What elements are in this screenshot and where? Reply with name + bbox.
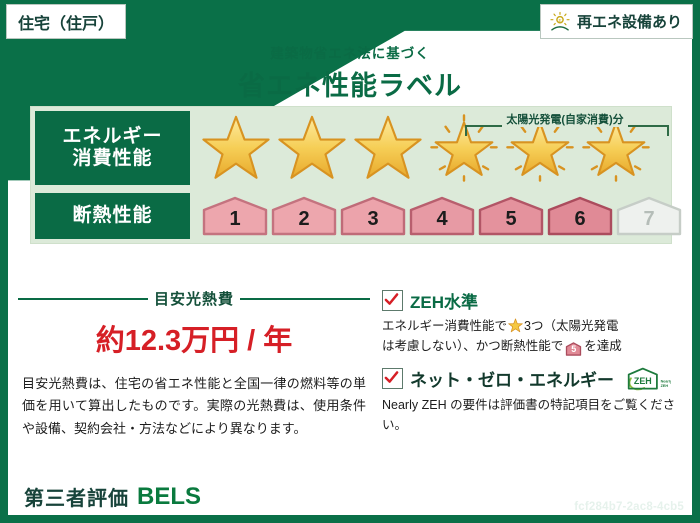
evaluation-date: 評価日 2025年7月3日: [554, 477, 684, 497]
insulation-chip-label: 6: [574, 202, 585, 231]
energy-label-card: 住宅（住戸） E 再エネ設備あり 建築物省エネ法に基づく 省エネ性能ラベル エ: [0, 0, 700, 523]
rating-panel: エネルギー 消費性能: [30, 106, 672, 244]
energy-performance-row: エネルギー 消費性能: [31, 107, 671, 189]
insulation-chip-5: 5: [478, 196, 544, 236]
bels-badge: 第三者評価 BELS: [14, 481, 211, 512]
zeh-netzero-title: ネット・ゼロ・エネルギー: [410, 366, 614, 391]
zeh-standard-block: ZEH水準 エネルギー消費性能で3つ（太陽光発電は考慮しない）、かつ断熱性能で5…: [382, 288, 682, 357]
lower-section: 目安光熱費 約12.3万円 / 年 目安光熱費は、住宅の省エネ性能と全国一律の燃…: [18, 288, 682, 444]
star-rating-group: [194, 114, 671, 182]
svg-text:E: E: [558, 18, 561, 23]
bels-logo-text: BELS: [137, 483, 201, 511]
evaluation-id: fcf284b7-2ac8-4cb5: [574, 501, 684, 513]
category-tag: 住宅（住戸）: [6, 4, 126, 39]
title-subtitle: 建築物省エネ法に基づく: [0, 42, 700, 62]
label-title: 建築物省エネ法に基づく 省エネ性能ラベル: [0, 42, 700, 103]
insulation-chip-label: 1: [229, 202, 240, 231]
zeh-desc-part2: は考慮しない）、かつ断熱性能で: [382, 339, 563, 353]
zeh-netzero-checkbox[interactable]: [382, 368, 403, 389]
renewable-badge-label: 再エネ設備あり: [577, 11, 682, 32]
star-solar-4: [428, 114, 500, 182]
insulation-label-line1: 断熱性能: [72, 205, 152, 227]
zeh-desc-starcount: 3つ（太陽光発電: [524, 319, 618, 333]
title-main: 省エネ性能ラベル: [0, 64, 700, 103]
zeh-standard-desc: エネルギー消費性能で3つ（太陽光発電は考慮しない）、かつ断熱性能で5を達成: [382, 316, 682, 357]
rule-right: [240, 298, 370, 300]
cost-heading: 目安光熱費: [154, 288, 234, 309]
inline-house-grade-icon: 5: [565, 342, 582, 356]
cost-note: 目安光熱費は、住宅の省エネ性能と全国一律の燃料等の単価を用いて算出したものです。…: [18, 373, 370, 440]
insulation-chip-6: 6: [547, 196, 613, 236]
cost-heading-row: 目安光熱費: [18, 288, 370, 309]
insulation-chip-label: 2: [298, 202, 309, 231]
check-icon: [384, 292, 399, 307]
star-filled-2: [276, 114, 348, 182]
svg-text:ZEH: ZEH: [661, 384, 669, 388]
zeh-netzero-block: ネット・ゼロ・エネルギー ZEH Nearly ZEH Nearly ZEH の…: [382, 366, 682, 436]
energy-label-line2: 消費性能: [72, 148, 152, 170]
insulation-grade-group: 1 2 3 4 5: [194, 196, 682, 236]
inline-house-grade-label: 5: [565, 342, 582, 357]
footer-bar: 第三者評価 BELS D-ROOM須屋 201号室 評価日 2025年7月3日 …: [0, 471, 700, 523]
renewable-energy-badge: E 再エネ設備あり: [540, 4, 693, 39]
insulation-performance-row: 断熱性能 1 2 3 4: [31, 189, 671, 243]
svg-text:Nearly: Nearly: [661, 379, 671, 383]
rule-left: [18, 298, 148, 300]
insulation-chip-label: 4: [436, 202, 447, 231]
zeh-desc-part3: を達成: [584, 339, 622, 353]
insulation-chip-7: 7: [616, 196, 682, 236]
insulation-performance-label: 断熱性能: [35, 193, 190, 239]
zeh-column: ZEH水準 エネルギー消費性能で3つ（太陽光発電は考慮しない）、かつ断熱性能で5…: [370, 288, 682, 444]
property-name: D-ROOM須屋 201号室: [232, 486, 384, 506]
insulation-chip-2: 2: [271, 196, 337, 236]
insulation-chip-1: 1: [202, 196, 268, 236]
energy-label-line1: エネルギー: [62, 126, 162, 148]
zeh-netzero-desc: Nearly ZEH の要件は評価書の特記項目をご覧ください。: [382, 395, 682, 436]
zeh-desc-part1: エネルギー消費性能で: [382, 319, 507, 333]
svg-text:ZEH: ZEH: [634, 376, 652, 386]
zeh-standard-title: ZEH水準: [410, 288, 478, 313]
check-icon: [384, 370, 399, 385]
cost-value: 約12.3万円 / 年: [18, 317, 370, 359]
cost-column: 目安光熱費 約12.3万円 / 年 目安光熱費は、住宅の省エネ性能と全国一律の燃…: [18, 288, 370, 444]
star-filled-1: [200, 114, 272, 182]
insulation-chip-3: 3: [340, 196, 406, 236]
inline-star-icon: [508, 318, 523, 333]
zeh-logo-icon: ZEH Nearly ZEH: [625, 366, 671, 392]
zeh-netzero-heading: ネット・ゼロ・エネルギー ZEH Nearly ZEH: [382, 366, 682, 392]
energy-performance-label: エネルギー 消費性能: [35, 111, 190, 185]
third-party-label: 第三者評価: [24, 482, 129, 511]
insulation-chip-label: 7: [643, 202, 654, 231]
zeh-standard-heading: ZEH水準: [382, 288, 682, 313]
star-filled-3: [352, 114, 424, 182]
star-solar-5: [504, 114, 576, 182]
zeh-standard-checkbox[interactable]: [382, 290, 403, 311]
insulation-chip-label: 3: [367, 202, 378, 231]
insulation-chip-label: 5: [505, 202, 516, 231]
insulation-chip-4: 4: [409, 196, 475, 236]
star-solar-6: [580, 114, 652, 182]
sun-icon: E: [549, 11, 571, 33]
